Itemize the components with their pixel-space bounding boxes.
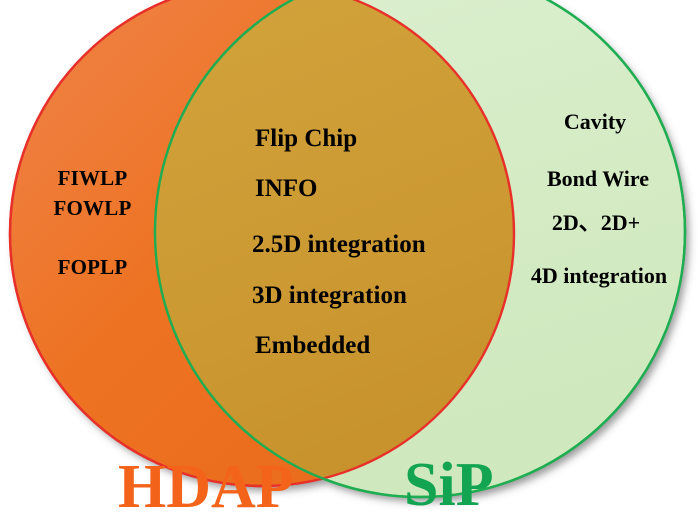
venn-diagram-canvas: FIWLP FOWLP FOPLP Flip Chip INFO 2.5D in… [0,0,698,528]
venn-circles-graphic [0,0,698,528]
